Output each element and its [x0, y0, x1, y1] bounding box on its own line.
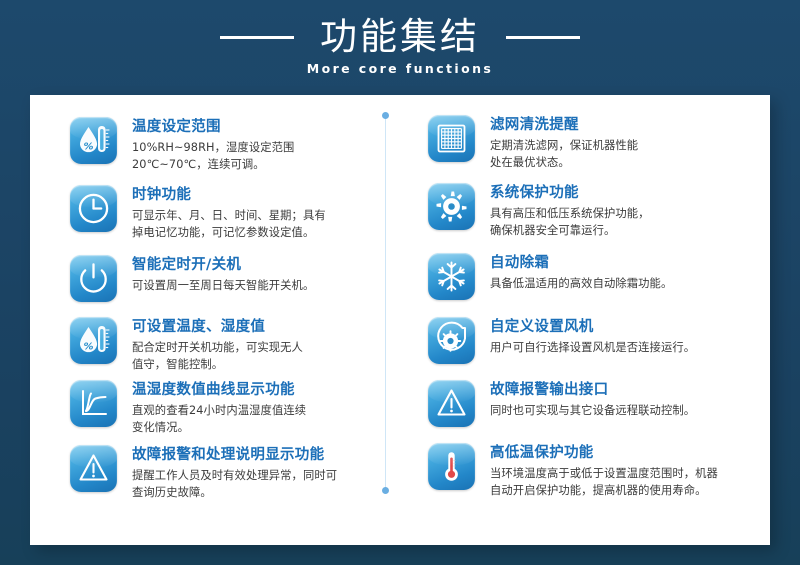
feature-title: 滤网清洗提醒: [490, 116, 768, 135]
feature-description-line: 定期清洗滤网，保证机器性能: [490, 138, 768, 155]
feature-text: 可设置温度、湿度值配合定时开关机功能，可实现无人值守，智能控制。: [132, 317, 410, 373]
feature-description-line: 20℃~70℃，连续可调。: [132, 157, 410, 174]
feature-description-line: 可显示年、月、日、时间、星期；具有: [132, 208, 410, 225]
title-rule-left: [220, 36, 294, 39]
feature-description-line: 可设置周一至周日每天智能开关机。: [132, 278, 410, 295]
feature-description: 具有高压和低压系统保护功能，确保机器安全可靠运行。: [490, 206, 768, 239]
feature-title: 时钟功能: [132, 186, 410, 205]
feature-description-line: 自动开启保护功能，提高机器的使用寿命。: [490, 483, 768, 500]
feature-description: 可设置周一至周日每天智能开关机。: [132, 278, 410, 295]
page-header: 功能集结 More core functions: [0, 0, 800, 95]
svg-text:%: %: [83, 142, 93, 153]
feature-description: 配合定时开关机功能，可实现无人值守，智能控制。: [132, 340, 410, 373]
humidity-thermometer-icon: %: [70, 117, 117, 164]
feature-description-line: 变化情况。: [132, 420, 410, 437]
feature-item: 自定义设置风机用户可自行选择设置风机是否连接运行。: [428, 317, 768, 364]
feature-title: 系统保护功能: [490, 184, 768, 203]
feature-text: 系统保护功能具有高压和低压系统保护功能，确保机器安全可靠运行。: [490, 183, 768, 239]
feature-description-line: 掉电记忆功能，可记忆参数设定值。: [132, 225, 410, 242]
feature-item: 系统保护功能具有高压和低压系统保护功能，确保机器安全可靠运行。: [428, 183, 768, 239]
thermometer-icon: [428, 443, 475, 490]
humidity-thermometer-icon: %: [70, 317, 117, 364]
feature-item: 温湿度数值曲线显示功能直观的查看24小时内温湿度值连续变化情况。: [70, 380, 410, 436]
feature-text: 自动除霜具备低温适用的高效自动除霜功能。: [490, 253, 768, 293]
feature-description-line: 查询历史故障。: [132, 485, 410, 502]
feature-description: 当环境温度高于或低于设置温度范围时，机器自动开启保护功能，提高机器的使用寿命。: [490, 466, 768, 499]
feature-description: 10%RH~98RH，湿度设定范围20℃~70℃，连续可调。: [132, 140, 410, 173]
feature-title: 温湿度数值曲线显示功能: [132, 381, 410, 400]
feature-item: 高低温保护功能当环境温度高于或低于设置温度范围时，机器自动开启保护功能，提高机器…: [428, 443, 768, 499]
warning-triangle-icon: [70, 445, 117, 492]
feature-description: 用户可自行选择设置风机是否连接运行。: [490, 340, 768, 357]
feature-text: 时钟功能可显示年、月、日、时间、星期；具有掉电记忆功能，可记忆参数设定值。: [132, 185, 410, 241]
feature-description: 提醒工作人员及时有效处理异常，同时可查询历史故障。: [132, 468, 410, 501]
feature-text: 故障报警和处理说明显示功能提醒工作人员及时有效处理异常，同时可查询历史故障。: [132, 445, 410, 501]
feature-description-line: 提醒工作人员及时有效处理异常，同时可: [132, 468, 410, 485]
feature-description-line: 直观的查看24小时内温湿度值连续: [132, 403, 410, 420]
feature-description: 可显示年、月、日、时间、星期；具有掉电记忆功能，可记忆参数设定值。: [132, 208, 410, 241]
feature-description: 定期清洗滤网，保证机器性能处在最优状态。: [490, 138, 768, 171]
feature-title: 高低温保护功能: [490, 444, 768, 463]
feature-item: % 可设置温度、湿度值配合定时开关机功能，可实现无人值守，智能控制。: [70, 317, 410, 373]
gear-icon: [428, 183, 475, 230]
feature-description-line: 处在最优状态。: [490, 155, 768, 172]
feature-description: 直观的查看24小时内温湿度值连续变化情况。: [132, 403, 410, 436]
feature-text: 故障报警输出接口同时也可实现与其它设备远程联动控制。: [490, 380, 768, 420]
feature-description-line: 具备低温适用的高效自动除霜功能。: [490, 276, 768, 293]
feature-title: 故障报警和处理说明显示功能: [132, 446, 410, 465]
filter-mesh-icon: [428, 115, 475, 162]
feature-title: 可设置温度、湿度值: [132, 318, 410, 337]
feature-description-line: 当环境温度高于或低于设置温度范围时，机器: [490, 466, 768, 483]
warning-triangle-icon: [428, 380, 475, 427]
feature-text: 温度设定范围10%RH~98RH，湿度设定范围20℃~70℃，连续可调。: [132, 117, 410, 173]
feature-item: 自动除霜具备低温适用的高效自动除霜功能。: [428, 253, 768, 300]
feature-columns: % 温度设定范围10%RH~98RH，湿度设定范围20℃~70℃，连续可调。 时…: [30, 95, 770, 545]
feature-title: 自动除霜: [490, 254, 768, 273]
title-row: 功能集结: [0, 14, 800, 60]
feature-description: 同时也可实现与其它设备远程联动控制。: [490, 403, 768, 420]
feature-title: 自定义设置风机: [490, 318, 768, 337]
feature-text: 智能定时开/关机可设置周一至周日每天智能开关机。: [132, 255, 410, 295]
feature-description-line: 同时也可实现与其它设备远程联动控制。: [490, 403, 768, 420]
page-subtitle: More core functions: [0, 61, 800, 76]
feature-description-line: 确保机器安全可靠运行。: [490, 223, 768, 240]
content-panel: % 温度设定范围10%RH~98RH，湿度设定范围20℃~70℃，连续可调。 时…: [30, 95, 770, 545]
svg-text:%: %: [83, 342, 93, 353]
feature-item: 故障报警输出接口同时也可实现与其它设备远程联动控制。: [428, 380, 768, 427]
blower-fan-icon: [428, 317, 475, 364]
feature-text: 自定义设置风机用户可自行选择设置风机是否连接运行。: [490, 317, 768, 357]
curve-chart-icon: [70, 380, 117, 427]
feature-text: 高低温保护功能当环境温度高于或低于设置温度范围时，机器自动开启保护功能，提高机器…: [490, 443, 768, 499]
feature-title: 温度设定范围: [132, 118, 410, 137]
feature-description-line: 10%RH~98RH，湿度设定范围: [132, 140, 410, 157]
power-icon: [70, 255, 117, 302]
feature-description-line: 配合定时开关机功能，可实现无人: [132, 340, 410, 357]
page-root: 功能集结 More core functions % 温度设定范围: [0, 0, 800, 565]
feature-text: 温湿度数值曲线显示功能直观的查看24小时内温湿度值连续变化情况。: [132, 380, 410, 436]
feature-item: 时钟功能可显示年、月、日、时间、星期；具有掉电记忆功能，可记忆参数设定值。: [70, 185, 410, 241]
feature-text: 滤网清洗提醒定期清洗滤网，保证机器性能处在最优状态。: [490, 115, 768, 171]
feature-title: 故障报警输出接口: [490, 381, 768, 400]
feature-item: % 温度设定范围10%RH~98RH，湿度设定范围20℃~70℃，连续可调。: [70, 117, 410, 173]
feature-item: 智能定时开/关机可设置周一至周日每天智能开关机。: [70, 255, 410, 302]
feature-description-line: 具有高压和低压系统保护功能，: [490, 206, 768, 223]
feature-description-line: 值守，智能控制。: [132, 357, 410, 374]
page-title: 功能集结: [320, 15, 480, 59]
clock-icon: [70, 185, 117, 232]
feature-title: 智能定时开/关机: [132, 256, 410, 275]
feature-item: 滤网清洗提醒定期清洗滤网，保证机器性能处在最优状态。: [428, 115, 768, 171]
feature-description: 具备低温适用的高效自动除霜功能。: [490, 276, 768, 293]
feature-item: 故障报警和处理说明显示功能提醒工作人员及时有效处理异常，同时可查询历史故障。: [70, 445, 410, 501]
snowflake-icon: [428, 253, 475, 300]
title-rule-right: [506, 36, 580, 39]
feature-description-line: 用户可自行选择设置风机是否连接运行。: [490, 340, 768, 357]
